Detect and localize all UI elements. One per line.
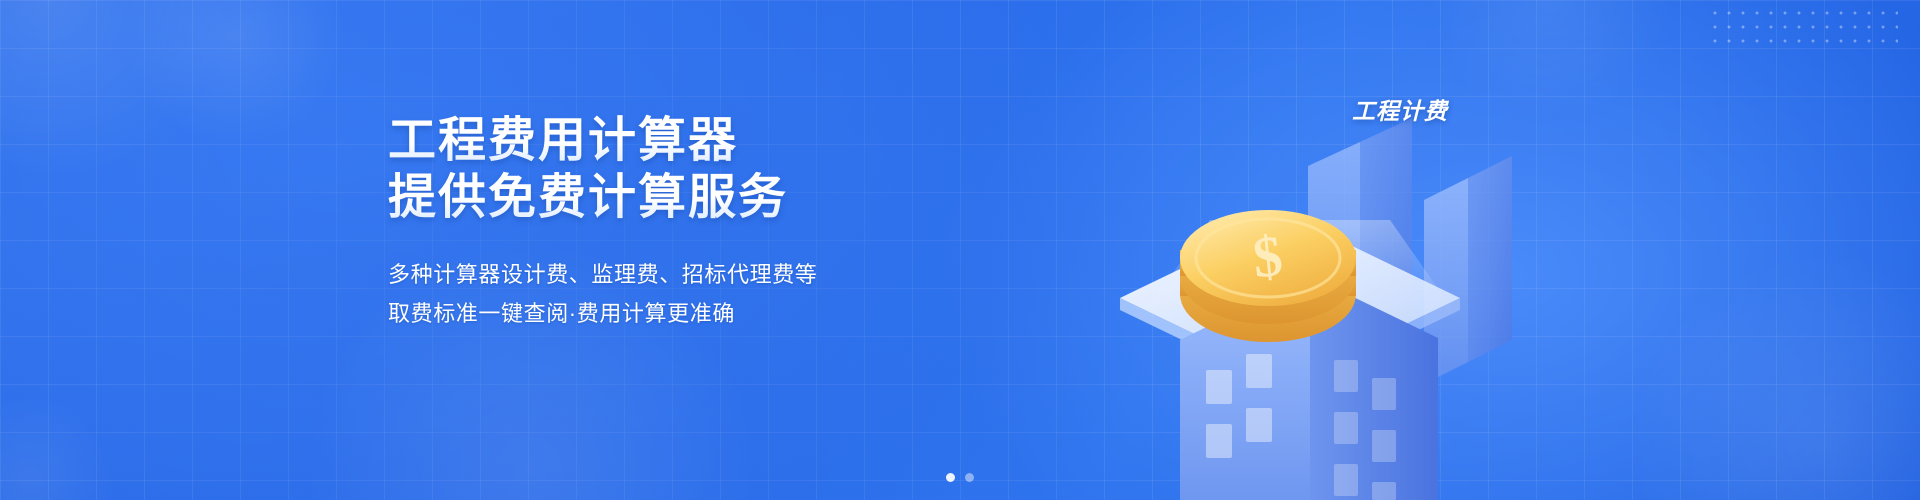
gold-coin-dollar-icon: $ bbox=[1180, 210, 1356, 342]
banner-copy-block: 工程费用计算器 提供免费计算服务 多种计算器设计费、监理费、招标代理费等 取费标… bbox=[388, 112, 948, 333]
hero-banner: 工程费用计算器 提供免费计算服务 多种计算器设计费、监理费、招标代理费等 取费标… bbox=[0, 0, 1920, 500]
banner-headline-line-1: 工程费用计算器 bbox=[388, 112, 948, 169]
banner-headline-line-2: 提供免费计算服务 bbox=[388, 169, 948, 226]
dot-matrix-decoration bbox=[1708, 6, 1898, 50]
decorative-blob bbox=[120, 0, 350, 150]
carousel-dots[interactable] bbox=[0, 473, 1920, 482]
illustration-badge-label: 工程计费 bbox=[1352, 92, 1448, 126]
grid-fade-overlay bbox=[0, 0, 1920, 500]
decorative-blob bbox=[0, 390, 120, 500]
carousel-dot-1[interactable] bbox=[946, 473, 955, 482]
decorative-blob bbox=[0, 0, 230, 180]
decorative-blob bbox=[1610, 230, 1920, 500]
banner-illustration: $ 工程计费 bbox=[1060, 70, 1620, 500]
carousel-dot-2[interactable] bbox=[965, 473, 974, 482]
grid-pattern-overlay bbox=[0, 0, 1920, 500]
banner-subtitle-line-2: 取费标准一键查阅·费用计算更准确 bbox=[388, 294, 948, 333]
banner-subtitle-line-1: 多种计算器设计费、监理费、招标代理费等 bbox=[388, 255, 948, 294]
